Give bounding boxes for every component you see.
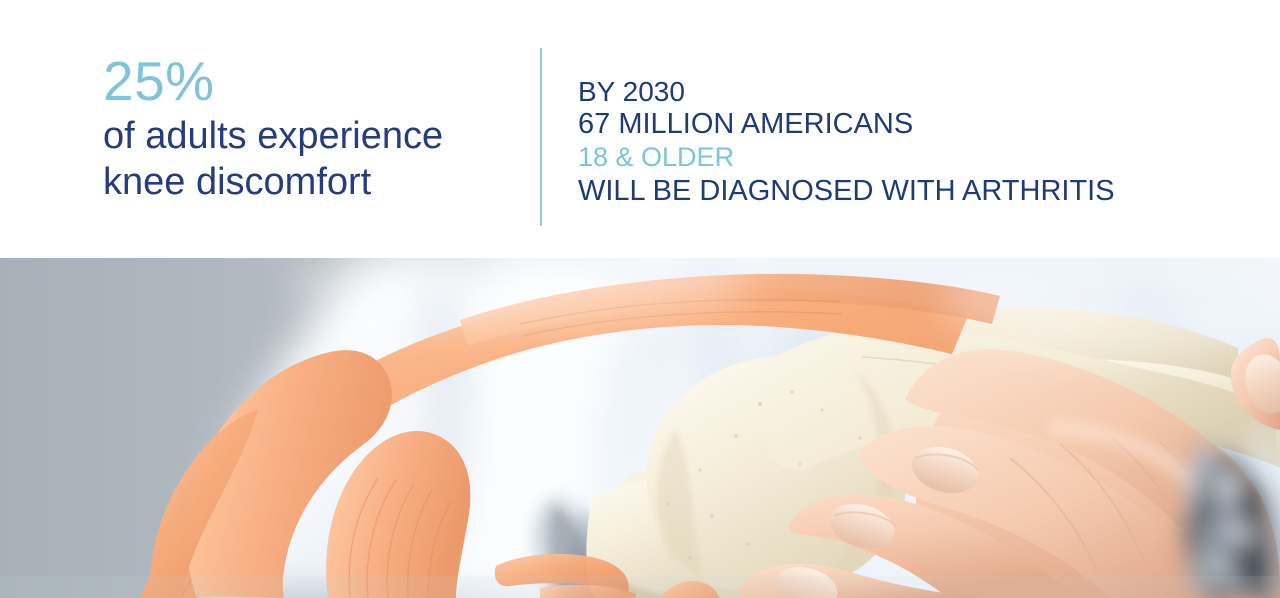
knee-discomfort-description-line-1: of adults experience bbox=[103, 114, 523, 158]
arthritis-projection-outcome: WILL BE DIAGNOSED WITH ARTHRITIS bbox=[578, 174, 1218, 208]
arthritis-projection-age-group: 18 & OLDER bbox=[578, 141, 1218, 174]
knee-discomfort-percentage: 25% bbox=[103, 52, 523, 110]
knee-discomfort-description-line-2: knee discomfort bbox=[103, 160, 523, 204]
arthritis-projection-stat-block: BY 2030 67 MILLION AMERICANS 18 & OLDER … bbox=[578, 76, 1218, 208]
vertical-divider bbox=[540, 48, 542, 226]
arthritis-statistics-infographic: 25% of adults experience knee discomfort… bbox=[0, 0, 1280, 598]
knee-discomfort-stat-block: 25% of adults experience knee discomfort bbox=[103, 52, 523, 204]
arthritis-projection-year: BY 2030 bbox=[578, 76, 1218, 107]
knee-model-photograph bbox=[0, 258, 1280, 598]
arthritis-projection-population: 67 MILLION AMERICANS bbox=[578, 107, 1218, 141]
statistics-band: 25% of adults experience knee discomfort… bbox=[0, 0, 1280, 258]
